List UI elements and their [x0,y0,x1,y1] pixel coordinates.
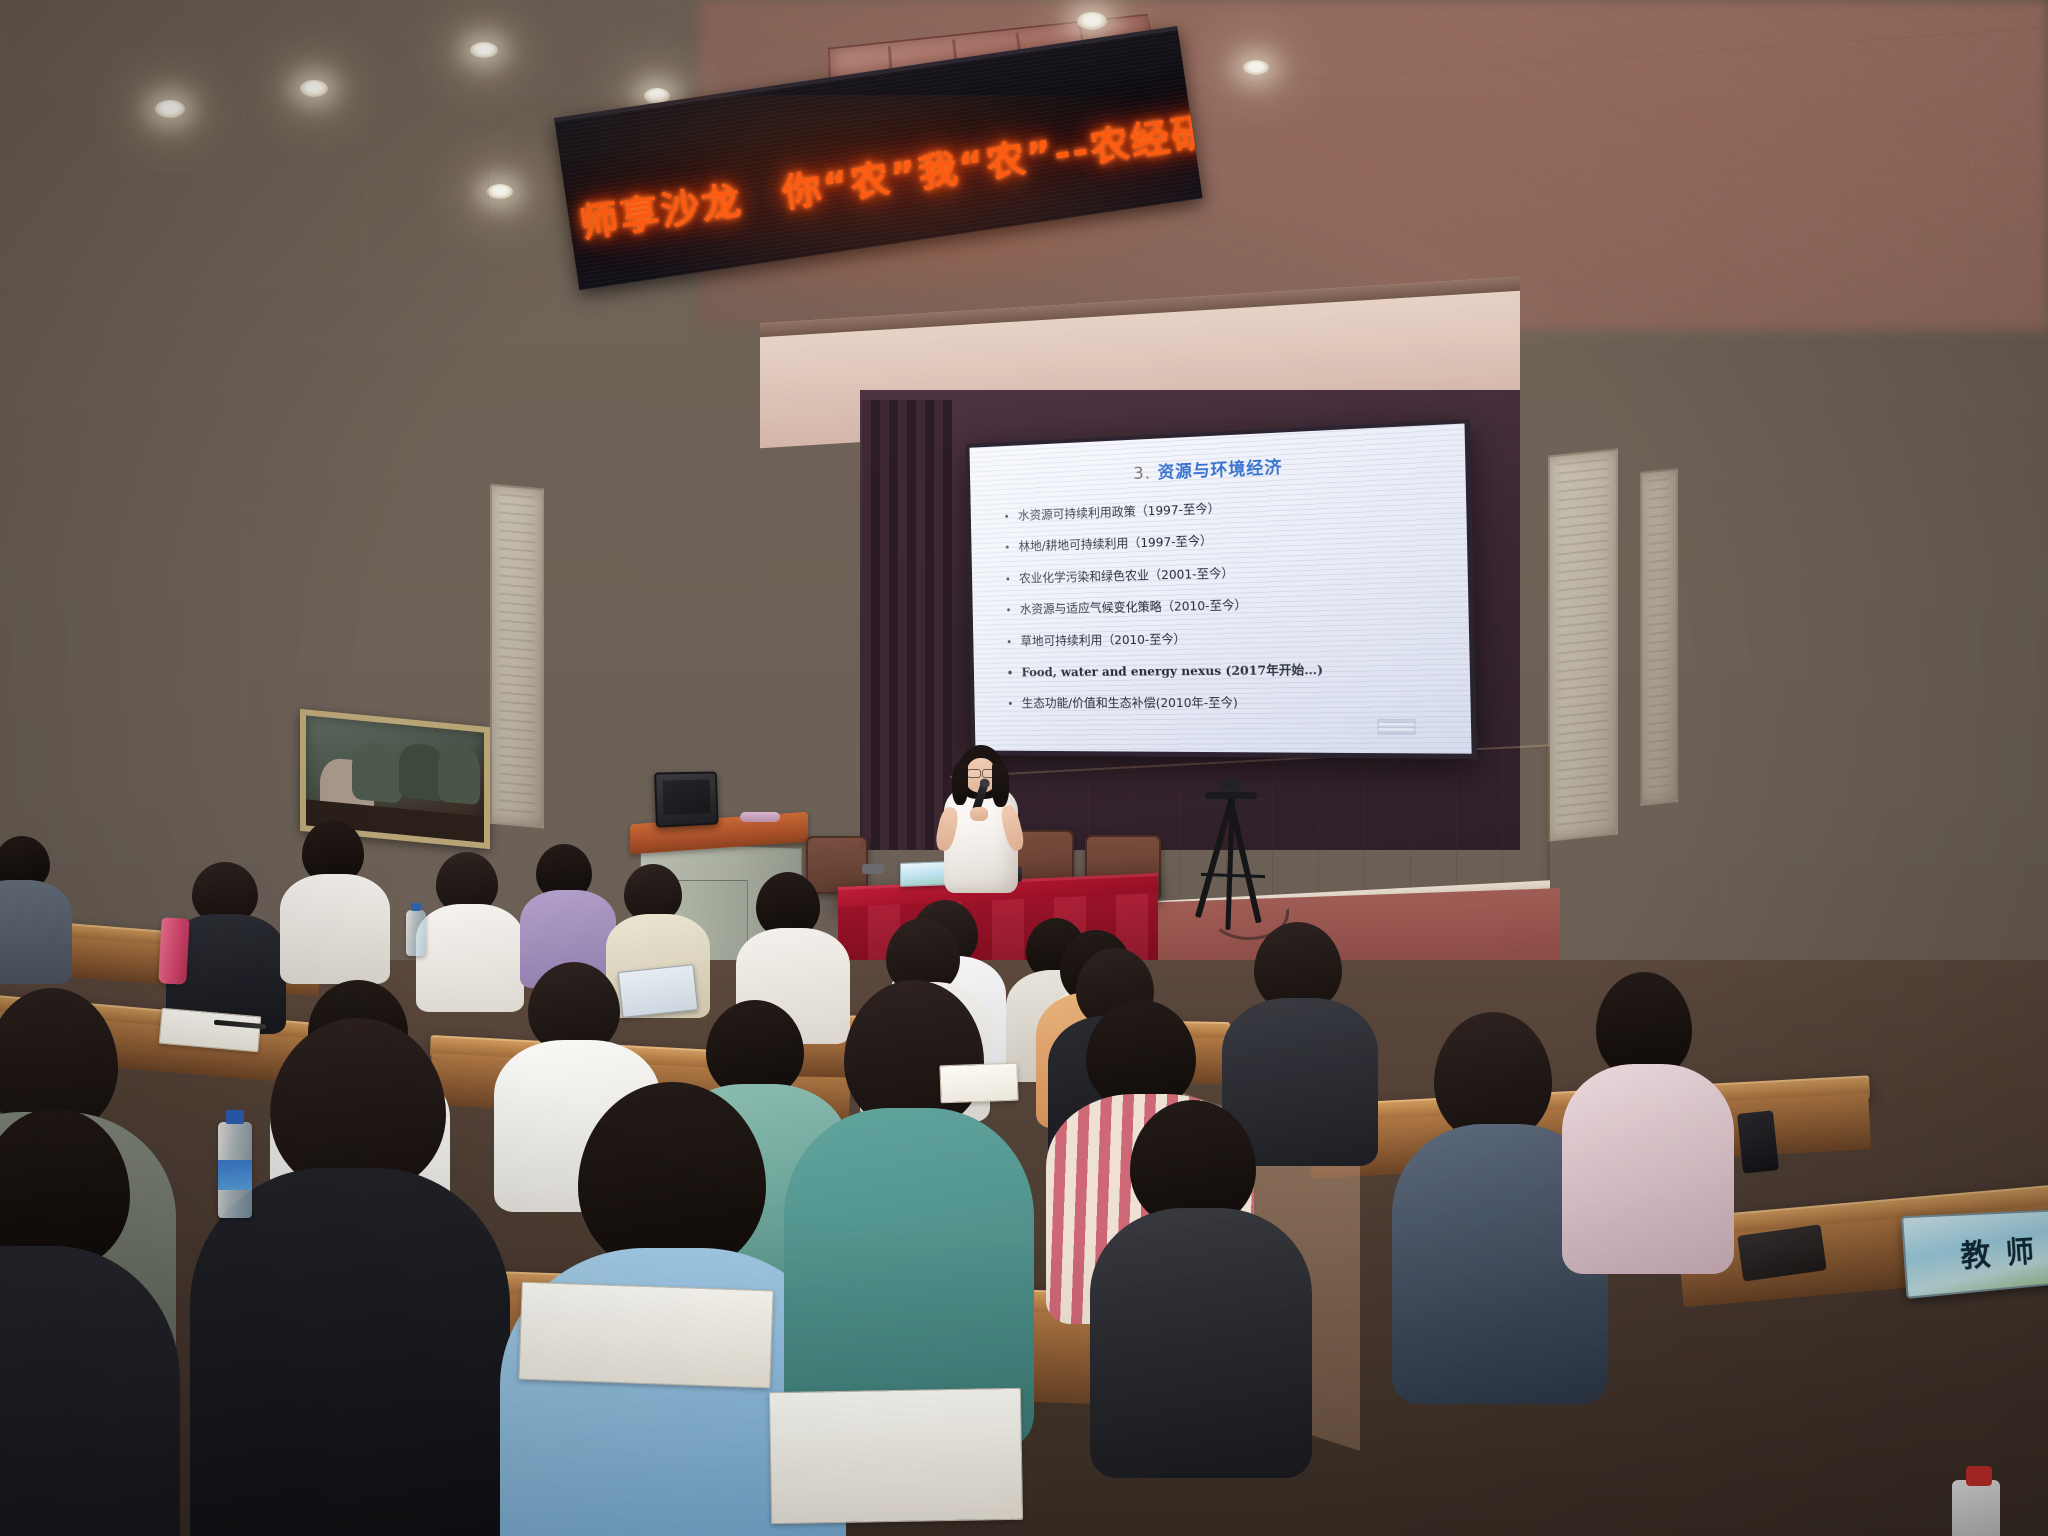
nameplate-char-right: 师 [2004,1227,2035,1272]
lectern-accessory [740,812,780,822]
presenter-hair-side [992,763,1009,807]
table-item [862,864,884,874]
slide-footer-mark [1377,719,1415,735]
bullet-marker-icon: • [1007,668,1014,679]
slide-bullet-1: • 水资源可持续利用政策（1997-至今） [1003,489,1446,524]
slide-bullet-text: 林地/耕地可持续利用（1997-至今） [1018,530,1212,555]
notebook [939,1063,1018,1104]
slide-bullet-text: 水资源可持续利用政策（1997-至今） [1018,498,1220,524]
foreground-cup [1952,1480,2000,1536]
slide-bullet-6: • Food, water and energy nexus (2017年开始…… [1007,658,1451,681]
slide-bullet-text: Food, water and energy nexus (2017年开始…) [1021,659,1323,680]
slide-bullet-3: • 农业化学污染和绿色农业（2001-至今） [1005,556,1449,586]
presenter [930,745,1040,905]
bullet-marker-icon: • [1007,699,1013,710]
ceiling-downlight [1243,60,1269,75]
bullet-marker-icon: • [1005,574,1011,585]
lecture-hall-photo: 师享沙龙 你“农”我“农”--农经研究前沿初探 3. 资源与环境经济 • 水资源… [0,0,2048,1536]
projected-slide: 3. 资源与环境经济 • 水资源可持续利用政策（1997-至今） • 林地/耕地… [969,423,1471,753]
slide-title-number: 3. [1133,464,1151,485]
wall-speaker-panel-right-secondary [1640,468,1678,806]
projection-screen: 3. 资源与环境经济 • 水资源可持续利用政策（1997-至今） • 林地/耕地… [966,419,1477,759]
slide-bullet-7: • 生态功能/价值和生态补偿(2010年-至今) [1007,691,1451,711]
nameplate-char-left: 教 [1959,1229,1992,1276]
presenter-glasses-left-lens [967,769,981,778]
foreground-cup-lid [1966,1466,1992,1486]
laptop [618,964,698,1018]
water-bottle [406,910,426,956]
lectern-monitor [654,772,718,828]
phone [1737,1110,1779,1173]
ceiling-downlight [470,42,498,58]
bullet-marker-icon: • [1005,605,1011,616]
camera-tripod [1175,778,1295,938]
notebook [769,1388,1023,1524]
water-bottle [218,1122,252,1218]
slide-bullet-text: 水资源与适应气候变化策略（2010-至今） [1020,594,1247,617]
slide-bullet-4: • 水资源与适应气候变化策略（2010-至今） [1005,590,1449,618]
ceiling-downlight [1077,12,1107,30]
video-camera [1221,778,1241,791]
wall-speaker-panel-left [490,484,544,829]
slide-title-text: 资源与环境经济 [1157,458,1282,483]
wall-speaker-panel-right [1548,448,1618,841]
notebook [518,1282,773,1389]
slide-bullet-5: • 草地可持续利用（2010-至今） [1006,624,1450,649]
tumbler [158,917,189,984]
bullet-marker-icon: • [1004,543,1010,554]
bullet-marker-icon: • [1006,636,1012,647]
bullet-marker-icon: • [1004,511,1010,522]
desk-nameplate: 教 师 [1901,1208,2048,1299]
slide-bullet-text: 农业化学污染和绿色农业（2001-至今） [1019,562,1234,586]
slide-title: 3. 资源与环境经济 [970,444,1466,490]
slide-bullet-list: • 水资源可持续利用政策（1997-至今） • 林地/耕地可持续利用（1997-… [1003,489,1451,725]
slide-bullet-text: 草地可持续利用（2010-至今） [1020,628,1186,649]
slide-bullet-2: • 林地/耕地可持续利用（1997-至今） [1004,523,1448,556]
presenter-hair-side [952,763,968,805]
slide-bullet-text: 生态功能/价值和生态补偿(2010年-至今) [1021,692,1238,711]
presenter-hand [970,807,988,821]
